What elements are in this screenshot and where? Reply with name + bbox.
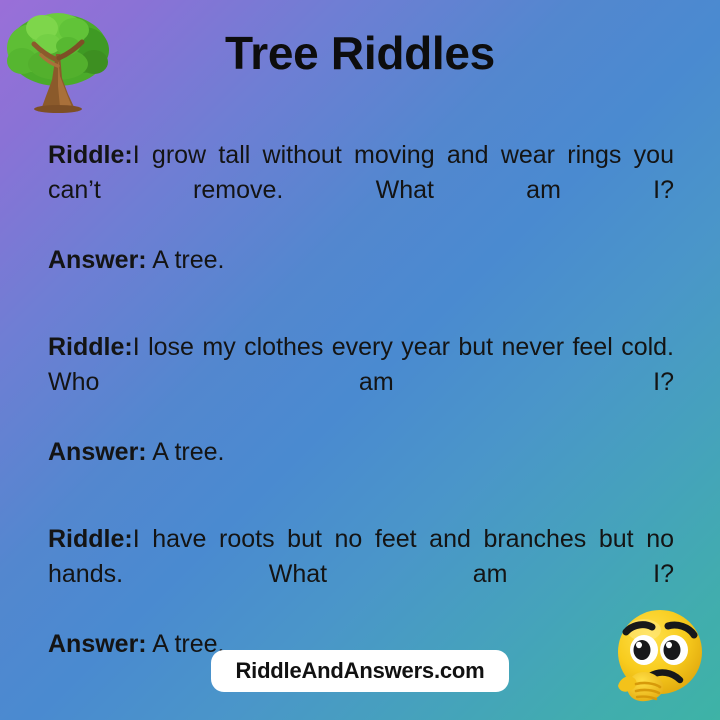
riddle-question-line: Riddle:I lose my clothes every year but … [48, 330, 674, 435]
riddle-item: Riddle:I grow tall without moving and we… [48, 138, 674, 278]
riddle-answer-line: Answer: A tree. [48, 243, 674, 278]
site-badge[interactable]: RiddleAndAnswers.com [211, 650, 509, 692]
answer-label: Answer: [48, 630, 147, 658]
site-badge-label: RiddleAndAnswers.com [235, 658, 484, 684]
answer-label: Answer: [48, 438, 147, 466]
riddle-answer-text: A tree. [152, 438, 224, 466]
riddle-answer-text: A tree. [152, 246, 224, 274]
riddle-label: Riddle: [48, 333, 133, 361]
riddle-answer-line: Answer: A tree. [48, 435, 674, 470]
riddle-question-line: Riddle:I grow tall without moving and we… [48, 138, 674, 243]
riddle-item: Riddle:I lose my clothes every year but … [48, 330, 674, 470]
riddle-list: Riddle:I grow tall without moving and we… [48, 138, 674, 714]
riddle-label: Riddle: [48, 141, 133, 169]
riddle-label: Riddle: [48, 525, 133, 553]
riddle-question-line: Riddle:I have roots but no feet and bran… [48, 522, 674, 627]
riddle-item: Riddle:I have roots but no feet and bran… [48, 522, 674, 662]
answer-label: Answer: [48, 246, 147, 274]
page-title: Tree Riddles [0, 28, 720, 79]
poster-canvas: Tree Riddles Riddle:I grow tall without … [0, 0, 720, 720]
riddle-question-text: I grow tall without moving and wear ring… [48, 141, 674, 204]
thinking-face-emoji [600, 600, 718, 718]
riddle-question-text: I lose my clothes every year but never f… [48, 333, 674, 396]
riddle-question-text: I have roots but no feet and branches bu… [48, 525, 674, 588]
